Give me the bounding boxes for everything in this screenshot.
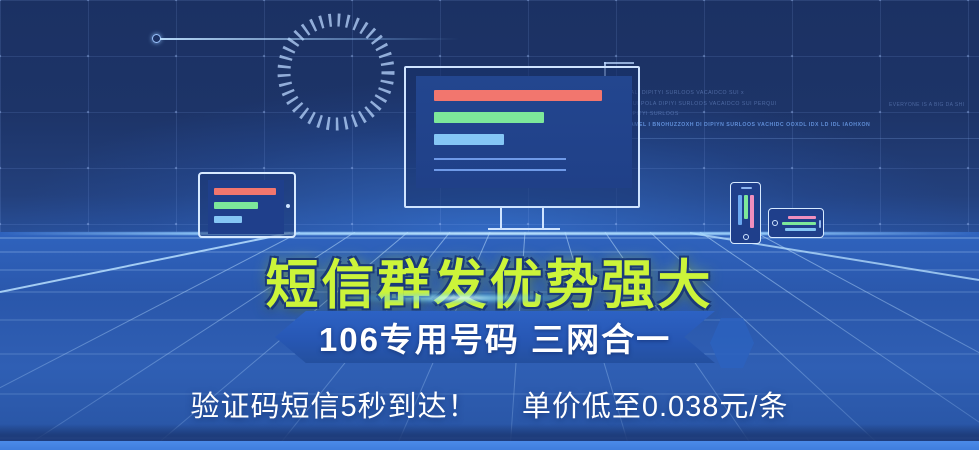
decor-text-line: DNC TAMEL I BNOHUZZOXH DI DIPIYN SURLOOS… bbox=[612, 120, 977, 131]
decorative-text-block: DI WA ALI DIPITYI SURLOOS VACAIDCO SUI x… bbox=[604, 62, 979, 180]
phone-horizontal-frame bbox=[768, 208, 824, 238]
monitor-line-1 bbox=[434, 158, 566, 160]
phone-v-bar-green bbox=[744, 195, 748, 219]
phone-vertical-illustration bbox=[730, 182, 761, 244]
horizon-glow-line bbox=[0, 232, 979, 235]
phone-h-bar-green bbox=[782, 222, 816, 225]
monitor-bar-red bbox=[434, 90, 602, 101]
bottom-accent-strip bbox=[0, 441, 979, 450]
desktop-monitor-illustration bbox=[404, 66, 640, 231]
tablet-bar-green bbox=[214, 202, 258, 209]
monitor-stand bbox=[500, 208, 544, 230]
beam-line bbox=[160, 38, 460, 40]
dashed-circle-icon bbox=[272, 8, 400, 136]
tablet-illustration bbox=[198, 172, 296, 238]
decor-text-line: DI WA ALI DIPITYI SURLOOS VACAIDCO SUI x bbox=[612, 88, 977, 99]
phone-vertical-frame bbox=[730, 182, 761, 244]
monitor-bar-green bbox=[434, 112, 544, 123]
tablet-home-button-icon bbox=[286, 204, 290, 208]
phone-v-bar-blue bbox=[738, 195, 742, 225]
sms-promo-banner: DI WA ALI DIPITYI SURLOOS VACAIDCO SUI x… bbox=[0, 0, 979, 450]
subline-left: 验证码短信5秒到达！ bbox=[191, 391, 478, 423]
subline-text: 验证码短信5秒到达！ 单价低至0.038元/条 bbox=[0, 383, 979, 425]
monitor-bar-blue bbox=[434, 134, 504, 145]
phone-home-button-icon bbox=[743, 234, 749, 240]
phone-speaker-icon bbox=[741, 187, 752, 189]
ribbon-label: 106专用号码 三网合一 bbox=[275, 311, 715, 363]
decor-top-tick bbox=[604, 62, 634, 64]
phone-h-bar-pink bbox=[788, 216, 816, 219]
tablet-screen bbox=[208, 180, 284, 234]
phone-h-home-button-icon bbox=[772, 220, 778, 226]
tablet-bar-red bbox=[214, 188, 276, 195]
phone-h-bar-blue bbox=[785, 228, 816, 231]
tablet-bar-blue bbox=[214, 216, 242, 223]
tablet-frame bbox=[198, 172, 296, 238]
phone-horizontal-illustration bbox=[768, 208, 824, 238]
decor-text-line: I HD DIPITYI SURLOOS bbox=[612, 109, 977, 120]
monitor-frame bbox=[404, 66, 640, 208]
lens-flare-glow bbox=[310, 285, 610, 311]
decor-right-text: EVERYONE IS A BIG DA SHI bbox=[889, 102, 964, 108]
monitor-screen bbox=[416, 76, 632, 188]
phone-v-bar-pink bbox=[750, 195, 754, 228]
subline-right: 单价低至0.038元/条 bbox=[522, 391, 789, 423]
decor-horizontal-rule bbox=[604, 138, 979, 139]
monitor-line-2 bbox=[434, 169, 566, 171]
phone-h-speaker-icon bbox=[819, 220, 821, 228]
bottom-dark-band bbox=[0, 424, 979, 442]
